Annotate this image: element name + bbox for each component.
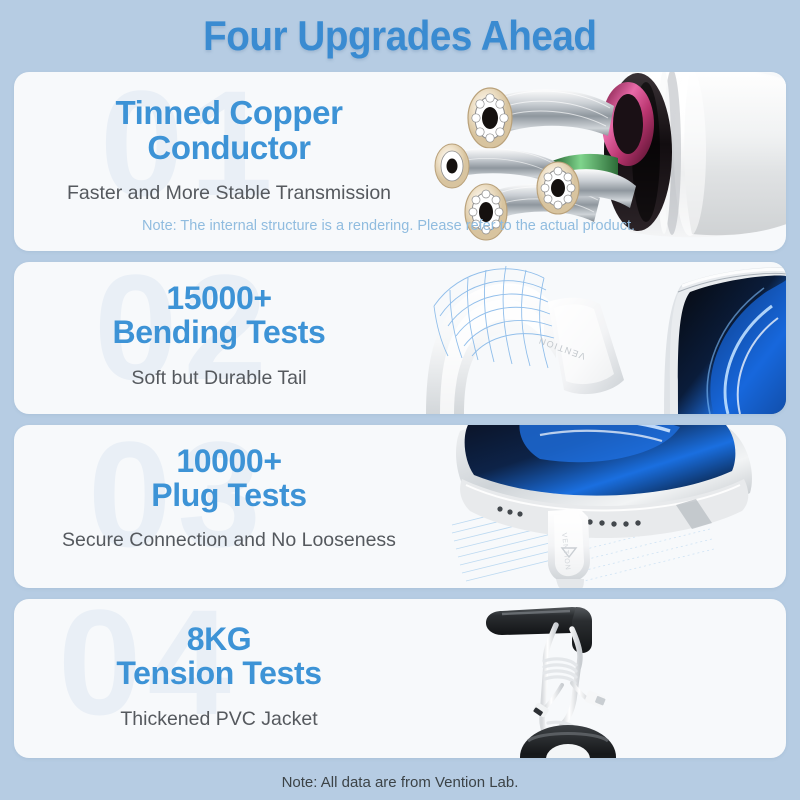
card-3-heading-line1: 10000+ [176,443,281,479]
card-2-heading-line1: 15000+ [166,280,271,316]
card-4-subtitle: Thickened PVC Jacket [120,708,317,731]
bending-test-image: VENTION [414,262,786,414]
page-footer: Note: All data are from Vention Lab. [0,765,800,800]
card-1-heading-line1: Tinned Copper [115,94,342,131]
svg-text:VENTION: VENTION [560,532,571,571]
card-4-text-block: 8KG Tension Tests Thickened PVC Jacket [14,599,424,731]
plug-test-image: VENTION [412,425,786,588]
card-1-heading: Tinned Copper Conductor [115,96,342,166]
card-1-note: Note: The internal structure is a render… [142,218,635,234]
card-1-text-block: Tinned Copper Conductor Faster and More … [14,72,444,205]
footer-note: Note: All data are from Vention Lab. [282,774,519,791]
feature-card-tension-tests[interactable]: 04 [14,599,786,758]
card-2-subtitle: Soft but Durable Tail [131,367,306,390]
page-title: Four Upgrades Ahead [203,12,596,60]
card-3-heading: 10000+ Plug Tests [151,445,306,513]
card-2-text-block: 15000+ Bending Tests Soft but Durable Ta… [14,262,424,390]
feature-card-bending-tests[interactable]: 02 [14,262,786,414]
svg-text:VENTION: VENTION [536,335,586,361]
feature-card-tinned-copper-conductor[interactable]: 01 [14,72,786,251]
card-3-heading-line2: Plug Tests [151,477,306,513]
card-4-heading-line1: 8KG [187,621,252,657]
feature-card-plug-tests[interactable]: 03 [14,425,786,588]
tension-test-image [444,599,784,758]
card-1-subtitle: Faster and More Stable Transmission [67,182,391,205]
card-3-text-block: 10000+ Plug Tests Secure Connection and … [14,425,444,552]
card-2-heading-line2: Bending Tests [113,314,326,350]
card-4-heading-line2: Tension Tests [116,655,321,691]
page-header: Four Upgrades Ahead [0,0,800,72]
card-3-subtitle: Secure Connection and No Looseness [62,529,396,552]
card-1-heading-line2: Conductor [147,129,310,166]
card-4-heading: 8KG Tension Tests [116,623,321,691]
card-2-heading: 15000+ Bending Tests [113,282,326,350]
feature-card-list: 01 [0,72,800,758]
